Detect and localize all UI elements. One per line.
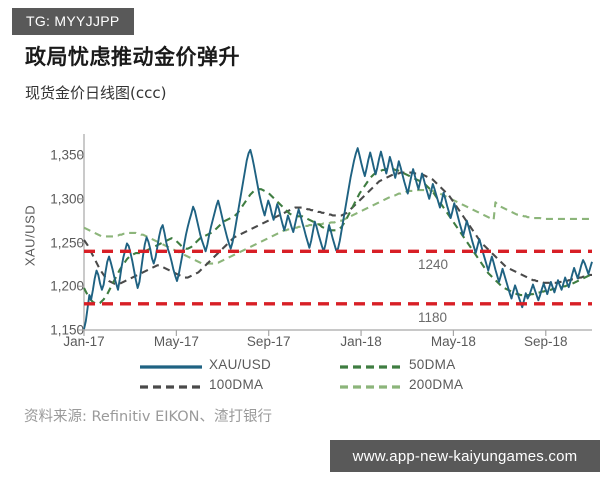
tg-tag-badge: TG: MYYJJPP (12, 8, 134, 35)
x-tick-label: Jan-17 (63, 334, 104, 349)
legend-item-dma50[interactable]: 50DMA (340, 357, 520, 372)
chart-legend: XAU/USD50DMA100DMA200DMA (140, 357, 520, 392)
annotation-label-support: 1180 (418, 310, 447, 325)
legend-swatch-xauusd-icon (140, 360, 202, 370)
legend-swatch-dma100-icon (140, 380, 202, 390)
watermark: www.app-new-kaiyungames.com (330, 440, 600, 472)
x-tick-label: May-18 (431, 334, 476, 349)
legend-swatch-dma50-icon (340, 360, 402, 370)
series-line-50dma (84, 169, 592, 304)
source-note: 资料来源: Refinitiv EIKON、渣打银行 (24, 405, 272, 426)
series-line-xauusd (84, 148, 592, 329)
chart-svg (0, 120, 600, 355)
x-tick-label: May-17 (154, 334, 199, 349)
chart-page: TG: MYYJJPP 政局忧虑推动金价弹升 现货金价日线图(ccc) XAU/… (0, 0, 600, 480)
legend-label-xauusd: XAU/USD (209, 357, 271, 372)
page-subtitle: 现货金价日线图(ccc) (25, 82, 166, 103)
legend-label-dma200: 200DMA (409, 377, 463, 392)
legend-item-dma200[interactable]: 200DMA (340, 377, 520, 392)
legend-label-dma100: 100DMA (209, 377, 263, 392)
x-tick-label: Sep-17 (247, 334, 291, 349)
legend-item-dma100[interactable]: 100DMA (140, 377, 340, 392)
legend-swatch-dma200-icon (340, 380, 402, 390)
x-tick-label: Sep-18 (524, 334, 568, 349)
plot-area: XAU/USD 1,1501,2001,2501,3001,350 Jan-17… (0, 120, 600, 355)
legend-label-dma50: 50DMA (409, 357, 456, 372)
annotation-label-resistance: 1240 (418, 257, 448, 272)
legend-item-xauusd[interactable]: XAU/USD (140, 357, 340, 372)
page-title: 政局忧虑推动金价弹升 (25, 41, 240, 71)
x-tick-label: Jan-18 (340, 334, 381, 349)
